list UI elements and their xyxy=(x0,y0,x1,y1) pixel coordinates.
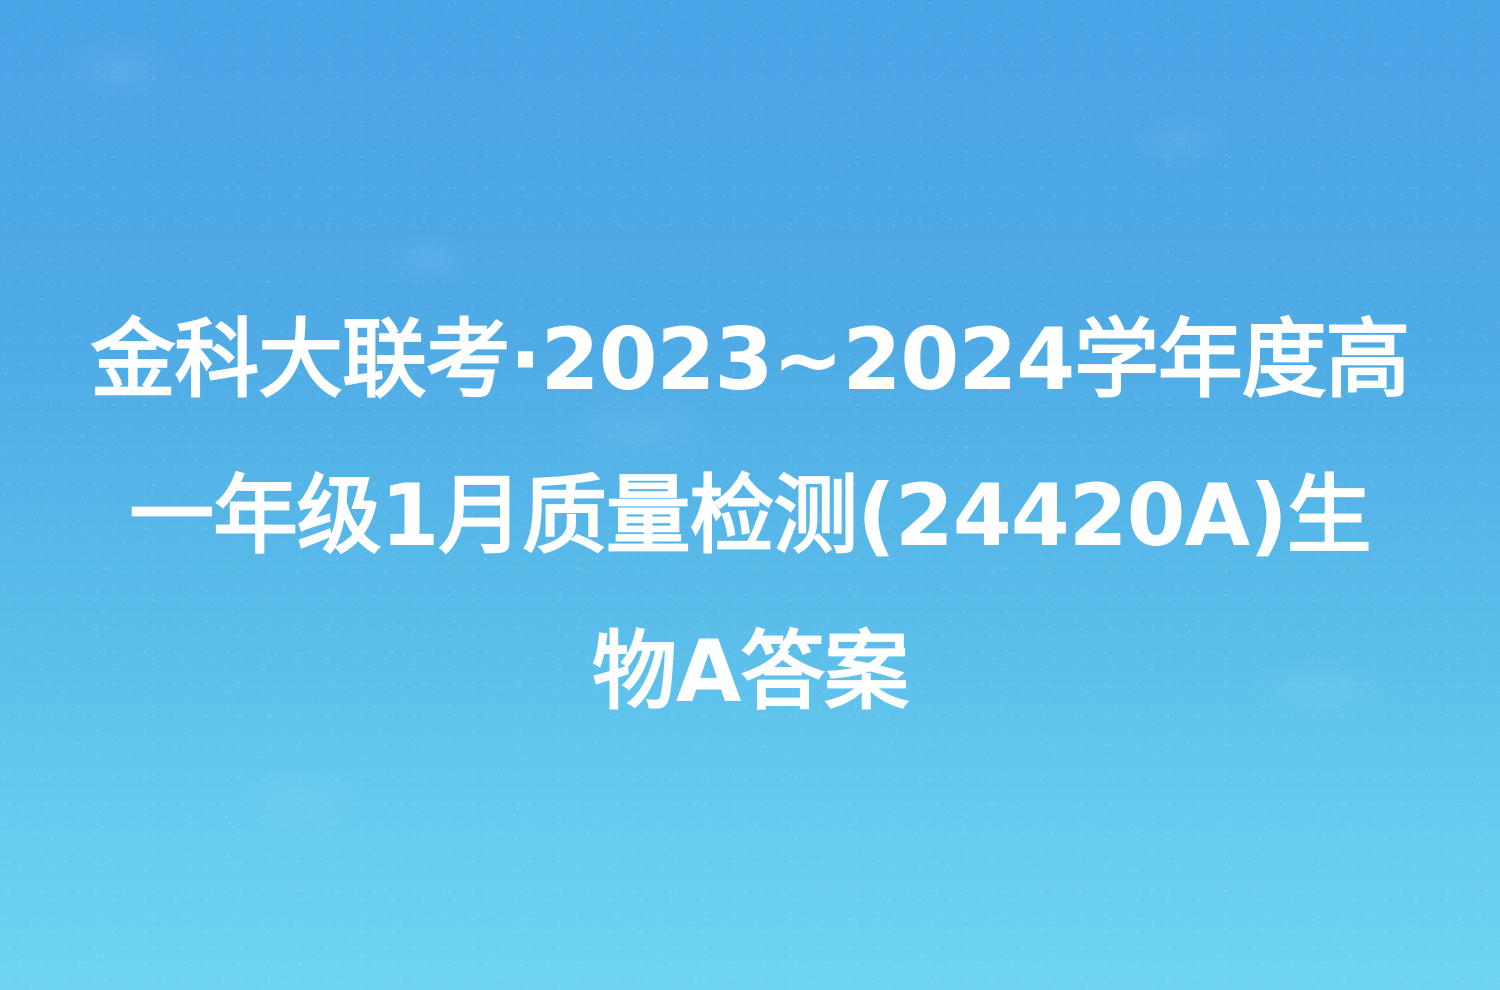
page-title: 金科大联考·2023~2024学年度高一年级1月质量检测(24420A)生物A答… xyxy=(88,282,1412,750)
title-block: 金科大联考·2023~2024学年度高一年级1月质量检测(24420A)生物A答… xyxy=(78,282,1422,750)
poster-canvas: 金科大联考·2023~2024学年度高一年级1月质量检测(24420A)生物A答… xyxy=(0,0,1500,990)
